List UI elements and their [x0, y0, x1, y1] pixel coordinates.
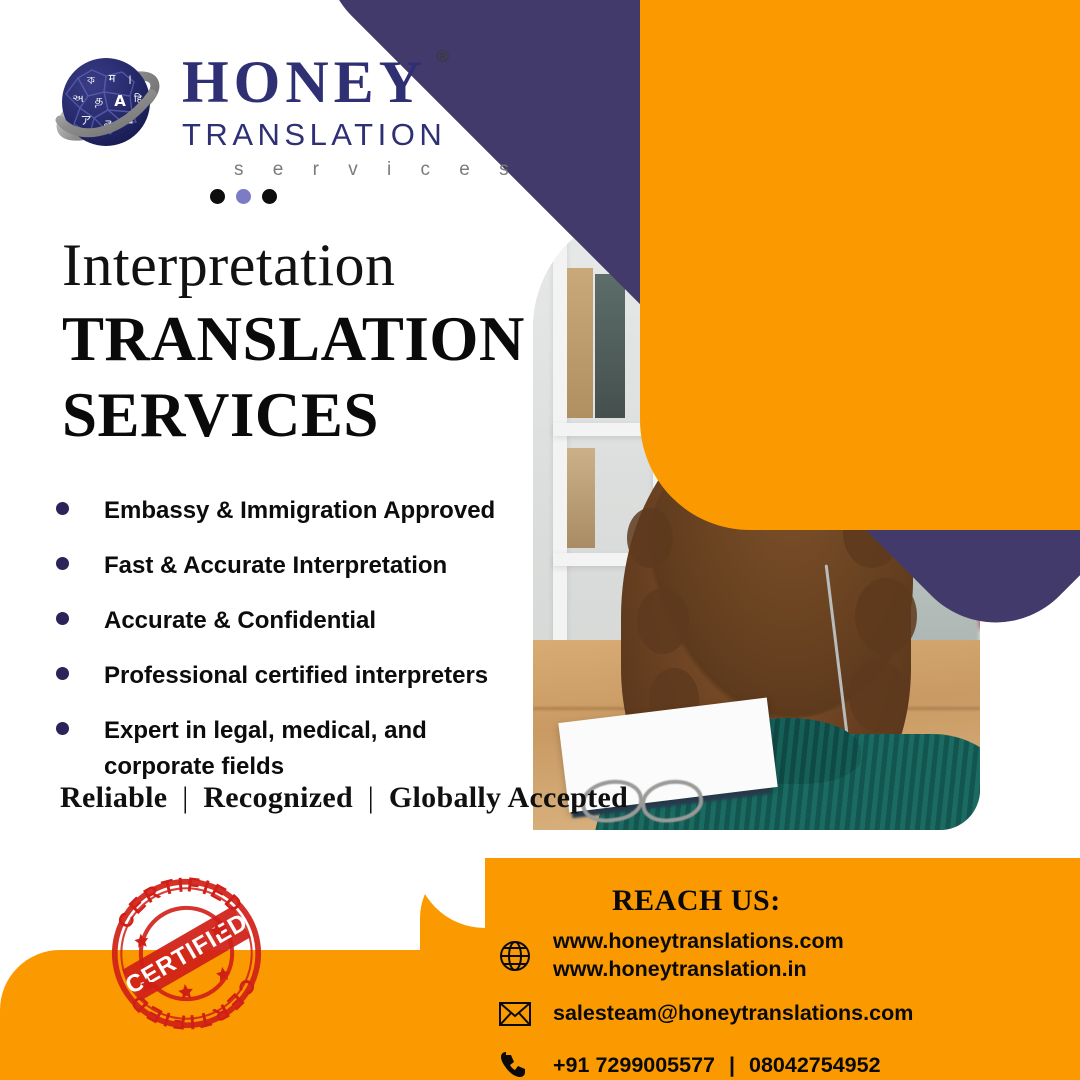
phone-number-2[interactable]: 08042754952	[749, 1053, 881, 1077]
dot-3	[262, 189, 277, 204]
feature-label: Expert in legal, medical, and corporate …	[104, 713, 464, 785]
reach-us-heading: REACH US:	[612, 884, 781, 918]
headline-script-line: Interpretation	[62, 234, 525, 297]
list-item: Expert in legal, medical, and corporate …	[56, 713, 526, 785]
globe-icon	[494, 935, 536, 977]
feature-label: Fast & Accurate Interpretation	[104, 548, 447, 584]
contact-row-email[interactable]: salesteam@honeytranslations.com	[494, 993, 913, 1035]
contact-row-phone[interactable]: +91 7299005577 | 08042754952	[494, 1045, 913, 1080]
logo-name-secondary: TRANSLATION	[182, 116, 521, 155]
headline-bold-line-1: TRANSLATION	[62, 305, 525, 373]
headline-block: Interpretation TRANSLATION SERVICES	[62, 234, 525, 449]
bullet-dot-icon	[56, 612, 69, 625]
bullet-dot-icon	[56, 502, 69, 515]
feature-label: Accurate & Confidential	[104, 603, 376, 639]
svg-text:ا: ا	[128, 74, 131, 87]
email-address[interactable]: salesteam@honeytranslations.com	[553, 1001, 913, 1025]
bullet-dot-icon	[56, 557, 69, 570]
bullet-dot-icon	[56, 722, 69, 735]
phone-separator: |	[721, 1053, 743, 1077]
tagline-separator-1: |	[175, 781, 195, 814]
dot-2	[236, 189, 251, 204]
tagline-part-1: Reliable	[60, 781, 167, 814]
list-item: Fast & Accurate Interpretation	[56, 548, 526, 584]
feature-label: Embassy & Immigration Approved	[104, 493, 495, 529]
list-item: Professional certified interpreters	[56, 658, 526, 694]
brand-logo: ক म ا અ த A हि ア తె ਪ HONEY ®	[52, 44, 521, 181]
svg-text:म: म	[109, 72, 116, 85]
svg-text:A: A	[114, 92, 126, 110]
list-item: Embassy & Immigration Approved	[56, 493, 526, 529]
bullet-dot-icon	[56, 667, 69, 680]
phone-number-1[interactable]: +91 7299005577	[553, 1053, 715, 1077]
phone-handset-icon	[494, 1045, 536, 1080]
feature-label: Professional certified interpreters	[104, 658, 488, 694]
website-url-2[interactable]: www.honeytranslation.in	[553, 956, 844, 984]
list-item: Accurate & Confidential	[56, 603, 526, 639]
feature-list: Embassy & Immigration Approved Fast & Ac…	[56, 493, 526, 804]
tagline-separator-2: |	[361, 781, 381, 814]
tagline-part-3: Globally Accepted	[389, 781, 628, 814]
globe-languages-icon: ক म ا અ த A हि ア తె ਪ	[52, 44, 168, 174]
svg-text:த: த	[95, 93, 103, 108]
svg-text:ক: ক	[86, 74, 95, 87]
contact-row-website[interactable]: www.honeytranslations.com www.honeytrans…	[494, 928, 913, 983]
logo-name-primary-text: HONEY	[182, 49, 427, 115]
envelope-icon	[494, 993, 536, 1035]
orange-corner-fill-overlay	[880, 0, 1080, 360]
contact-details: www.honeytranslations.com www.honeytrans…	[494, 928, 913, 1080]
dot-1	[210, 189, 225, 204]
svg-text:ア: ア	[81, 114, 92, 127]
tagline-part-2: Recognized	[203, 781, 353, 814]
registered-trademark-icon: ®	[437, 48, 450, 65]
logo-name-primary: HONEY ®	[182, 52, 427, 112]
headline-bold-line-2: SERVICES	[62, 381, 525, 449]
certified-stamp-icon: CERTIFIED CERTIFIED CERTIFIED	[94, 861, 278, 1045]
decorative-dots	[210, 189, 277, 204]
poster-canvas: ক म ا અ த A हि ア తె ਪ HONEY ®	[0, 0, 1080, 1080]
svg-text:અ: અ	[72, 92, 84, 105]
tagline: Reliable | Recognized | Globally Accepte…	[60, 781, 628, 815]
logo-name-tertiary: s e r v i c e s	[182, 159, 521, 181]
website-url-1[interactable]: www.honeytranslations.com	[553, 929, 844, 953]
